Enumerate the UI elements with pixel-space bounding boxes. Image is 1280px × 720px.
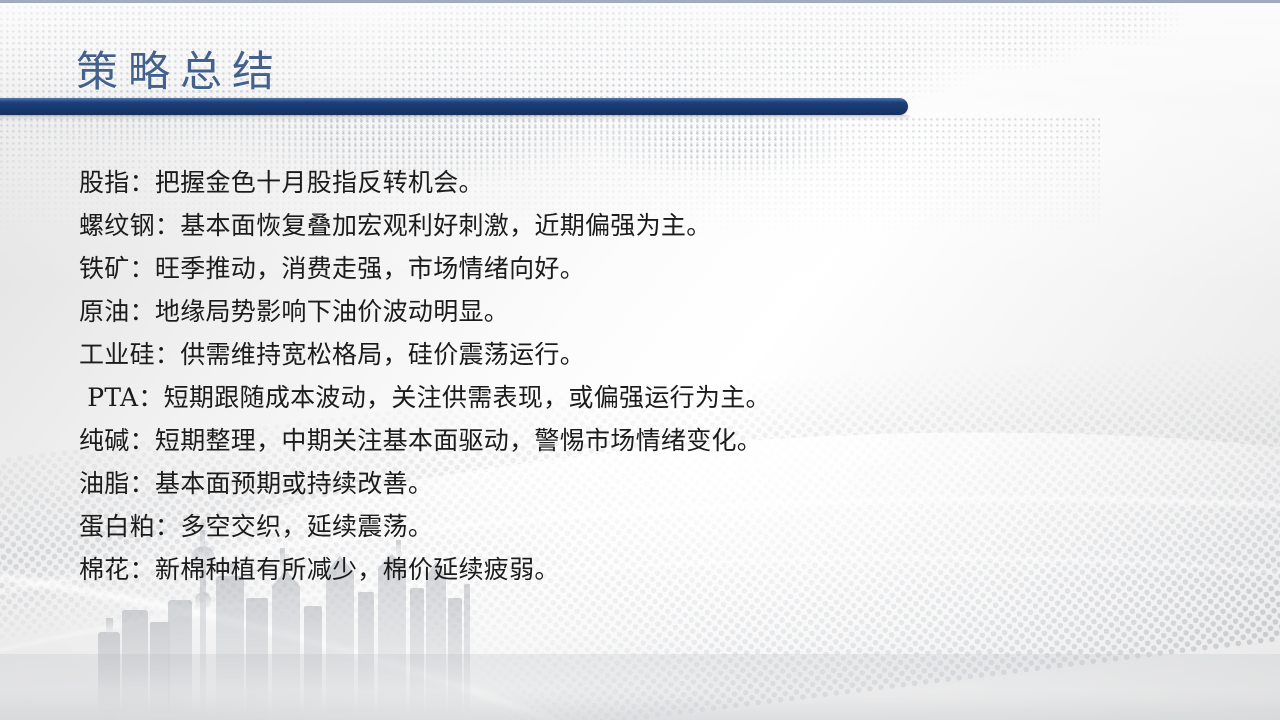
list-item: 原油：地缘局势影响下油价波动明显。 xyxy=(79,290,1199,333)
list-item: PTA：短期跟随成本波动，关注供需表现，或偏强运行为主。 xyxy=(79,376,1199,419)
summary-list: 股指：把握金色十月股指反转机会。 螺纹钢：基本面恢复叠加宏观利好刺激，近期偏强为… xyxy=(79,161,1199,591)
slide-canvas: 策略总结 股指：把握金色十月股指反转机会。 螺纹钢：基本面恢复叠加宏观利好刺激，… xyxy=(0,0,1280,720)
list-item: 油脂：基本面预期或持续改善。 xyxy=(79,462,1199,505)
list-item: 蛋白粕：多空交织，延续震荡。 xyxy=(79,505,1199,548)
list-item: 螺纹钢：基本面恢复叠加宏观利好刺激，近期偏强为主。 xyxy=(79,204,1199,247)
list-item: 棉花：新棉种植有所减少，棉价延续疲弱。 xyxy=(79,548,1199,591)
title-underline-bar-highlight xyxy=(0,98,908,102)
page-title: 策略总结 xyxy=(76,38,284,99)
list-item: 纯碱：短期整理，中期关注基本面驱动，警惕市场情绪变化。 xyxy=(79,419,1199,462)
list-item: 工业硅：供需维持宽松格局，硅价震荡运行。 xyxy=(79,333,1199,376)
list-item: 股指：把握金色十月股指反转机会。 xyxy=(79,161,1199,204)
list-item: 铁矿：旺季推动，消费走强，市场情绪向好。 xyxy=(79,247,1199,290)
title-bar-shadow xyxy=(0,115,910,121)
title-underline-bar xyxy=(0,98,908,115)
